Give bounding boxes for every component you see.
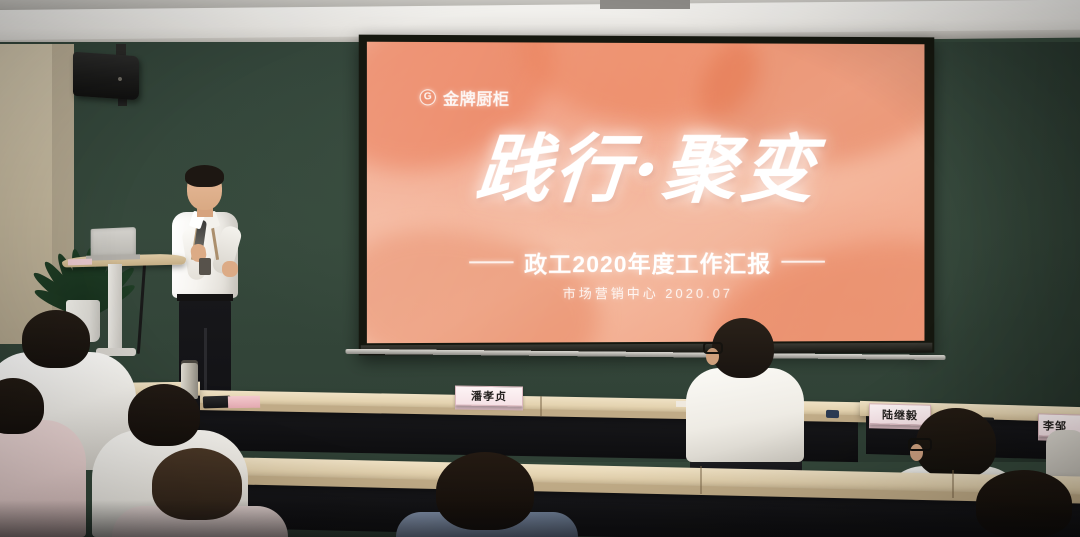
audience-member-head [976,470,1072,537]
name-placard: 陆继毅 [869,403,931,426]
notepad-icon [228,396,260,409]
table-seam [700,466,702,494]
speaker-led [118,77,122,81]
audience-member-body [0,420,86,537]
presenter-leg-split [204,328,207,394]
conference-room-photo: G 金牌厨柜 践行·聚变 政工2020年度工作汇报 市场营销中心 2020.07 [0,0,1080,537]
ceiling-vent [600,0,690,9]
podium-pink-pad [68,259,92,266]
goldenhome-g-logo: G [420,89,436,105]
slide-main-title: 践行·聚变 [367,132,925,207]
projector-screen: G 金牌厨柜 践行·聚变 政工2020年度工作汇报 市场营销中心 2020.07 [359,35,935,356]
name-placard: 潘孝贞 [455,386,523,407]
slide-brand-logo: G 金牌厨柜 [420,85,510,109]
slide-meta-line: 市场营销中心 2020.07 [367,282,925,303]
slide-subtitle: 政工2020年度工作汇报 [524,245,771,279]
table-seam [952,470,954,498]
presenter-hair [185,165,224,187]
audience-member-head [152,448,242,520]
eyeglasses-icon [908,438,932,451]
wall-speaker-icon [73,52,139,101]
staff-badge [199,258,211,275]
projected-slide: G 金牌厨柜 践行·聚变 政工2020年度工作汇报 市场营销中心 2020.07 [367,42,925,344]
subtitle-dash-left [470,261,514,263]
audience-member-head [22,310,90,368]
slide-subtitle-row: 政工2020年度工作汇报 [367,245,925,280]
presenter [163,168,247,398]
slide-brand-name: 金牌厨柜 [443,85,510,109]
eyeglasses-icon [703,342,723,354]
presenter-belt [177,294,233,301]
podium-column [108,264,122,354]
presenter-right-hand [222,261,238,277]
audience-member-head [436,452,534,530]
audience-member-body [686,368,804,462]
phone-icon-right [826,410,839,418]
table-seam [540,396,542,416]
subtitle-dash-right [781,261,825,263]
audience-member-head [128,384,200,446]
